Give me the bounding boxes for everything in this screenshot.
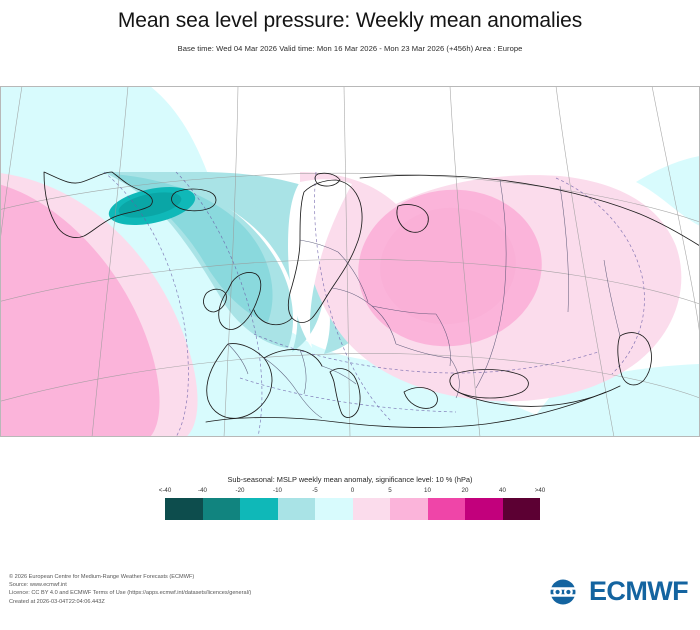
footer-line-licence[interactable]: Licence: CC BY 4.0 and ECMWF Terms of Us…	[9, 589, 251, 597]
colorbar-title: Sub-seasonal: MSLP weekly mean anomaly, …	[0, 475, 700, 484]
colorbar-swatch-9	[503, 498, 541, 520]
colorbar-tick-5: 0	[351, 487, 354, 494]
colorbar-swatch-1	[203, 498, 241, 520]
footer-line-created: Created at 2026-03-04T22:04:06.443Z	[9, 598, 251, 606]
colorbar-tick-9: 40	[499, 487, 506, 494]
colorbar-tick-1: -40	[198, 487, 207, 494]
ecmwf-logo[interactable]: ECMWF	[543, 576, 688, 607]
footer-attribution: © 2026 European Centre for Medium-Range …	[9, 573, 251, 606]
colorbar-tick-10: >40	[535, 487, 546, 494]
colorbar-tick-7: 10	[424, 487, 431, 494]
chart-header: Mean sea level pressure: Weekly mean ano…	[0, 0, 700, 86]
colorbar-tick-3: -10	[273, 487, 282, 494]
map-panel[interactable]	[0, 86, 700, 437]
colorbar-tick-6: 5	[388, 487, 391, 494]
colorbar-tick-labels: <-40-40-20-10-505102040>40	[165, 487, 540, 497]
colorbar-tick-2: -20	[236, 487, 245, 494]
colorbar-swatch-2	[240, 498, 278, 520]
colorbar-swatch-5	[353, 498, 391, 520]
colorbar-swatch-4	[315, 498, 353, 520]
colorbar[interactable]	[165, 498, 540, 520]
footer-line-source: Source: www.ecmwf.int	[9, 581, 251, 589]
footer: © 2026 European Centre for Medium-Range …	[0, 565, 700, 630]
chart-subtitle: Base time: Wed 04 Mar 2026 Valid time: M…	[0, 44, 700, 53]
colorbar-swatch-0	[165, 498, 203, 520]
footer-line-copyright: © 2026 European Centre for Medium-Range …	[9, 573, 251, 581]
page-title: Mean sea level pressure: Weekly mean ano…	[0, 9, 700, 33]
colorbar-swatch-6	[390, 498, 428, 520]
colorbar-tick-4: -5	[312, 487, 318, 494]
ecmwf-emblem-icon	[543, 579, 583, 605]
colorbar-swatch-7	[428, 498, 466, 520]
colorbar-block: Sub-seasonal: MSLP weekly mean anomaly, …	[0, 470, 700, 530]
anomaly-map[interactable]	[0, 86, 700, 437]
colorbar-swatch-3	[278, 498, 316, 520]
colorbar-swatch-8	[465, 498, 503, 520]
colorbar-tick-8: 20	[462, 487, 469, 494]
ecmwf-wordmark: ECMWF	[589, 576, 688, 607]
colorbar-tick-0: <-40	[159, 487, 172, 494]
